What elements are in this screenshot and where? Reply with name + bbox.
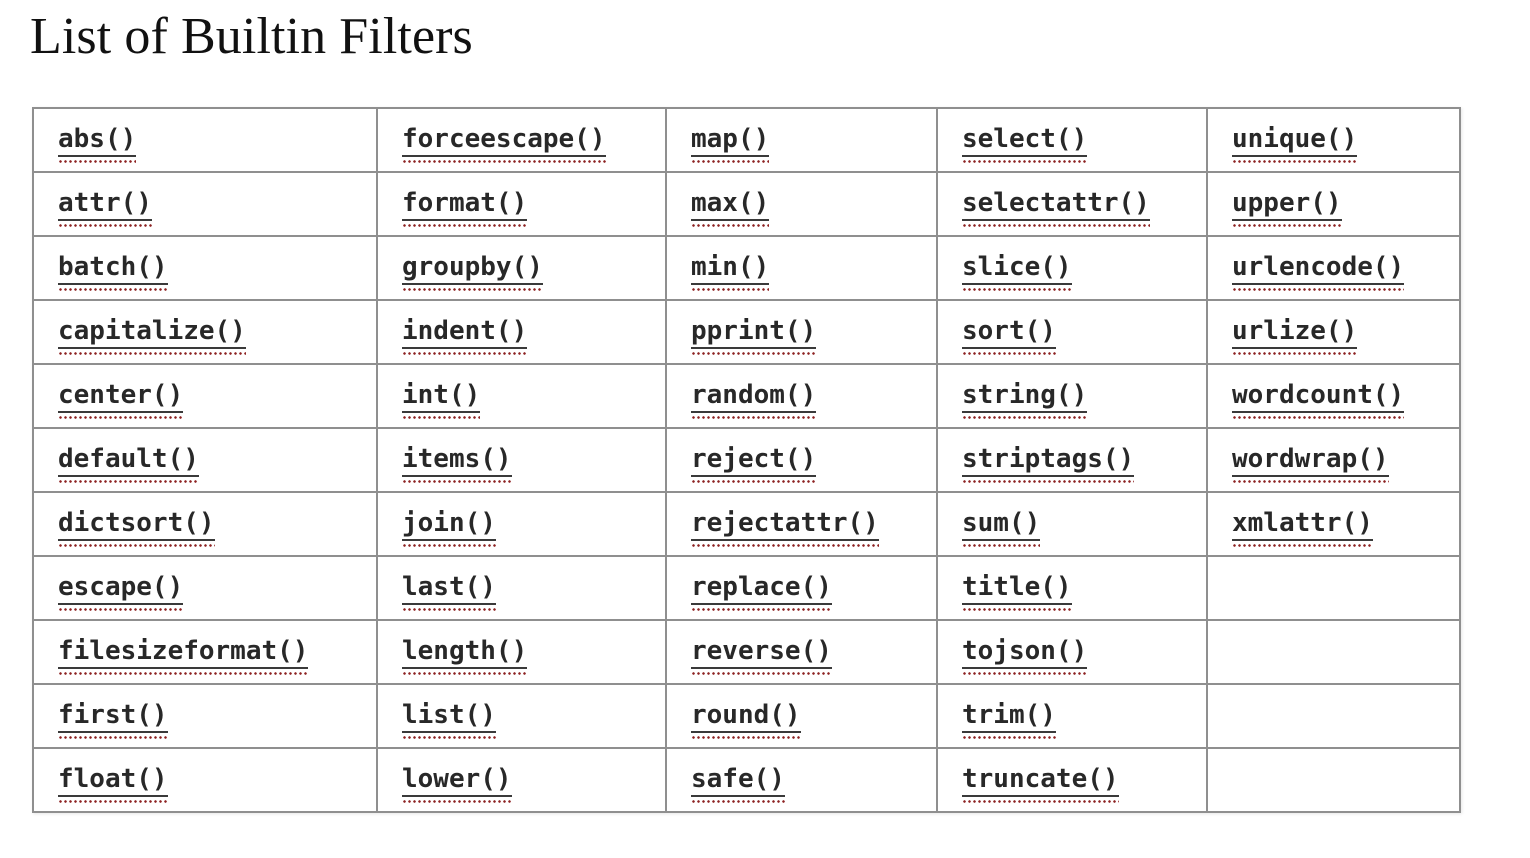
table-cell: filesizeformat() bbox=[33, 620, 377, 684]
filter-link[interactable]: join() bbox=[402, 508, 496, 541]
table-cell-empty bbox=[1207, 684, 1460, 748]
table-row: float()lower()safe()truncate() bbox=[33, 748, 1460, 812]
table-cell: max() bbox=[666, 172, 937, 236]
table-cell: attr() bbox=[33, 172, 377, 236]
table-cell: truncate() bbox=[937, 748, 1207, 812]
filter-link[interactable]: selectattr() bbox=[962, 188, 1150, 221]
table-cell: map() bbox=[666, 108, 937, 172]
filter-link[interactable]: rejectattr() bbox=[691, 508, 879, 541]
filter-link[interactable]: center() bbox=[58, 380, 183, 413]
filter-link[interactable]: wordwrap() bbox=[1232, 444, 1389, 477]
filter-link[interactable]: urlize() bbox=[1232, 316, 1357, 349]
filter-link[interactable]: title() bbox=[962, 572, 1072, 605]
filter-link[interactable]: tojson() bbox=[962, 636, 1087, 669]
table-cell: trim() bbox=[937, 684, 1207, 748]
table-cell: center() bbox=[33, 364, 377, 428]
filter-link[interactable]: unique() bbox=[1232, 124, 1357, 157]
table-cell: pprint() bbox=[666, 300, 937, 364]
filter-link[interactable]: reject() bbox=[691, 444, 816, 477]
filter-link[interactable]: int() bbox=[402, 380, 480, 413]
filter-link[interactable]: select() bbox=[962, 124, 1087, 157]
table-cell: float() bbox=[33, 748, 377, 812]
filter-link[interactable]: first() bbox=[58, 700, 168, 733]
table-cell: groupby() bbox=[377, 236, 666, 300]
table-cell: safe() bbox=[666, 748, 937, 812]
table-cell: selectattr() bbox=[937, 172, 1207, 236]
table-cell: int() bbox=[377, 364, 666, 428]
filter-link[interactable]: random() bbox=[691, 380, 816, 413]
filter-link[interactable]: attr() bbox=[58, 188, 152, 221]
filter-link[interactable]: float() bbox=[58, 764, 168, 797]
table-row: capitalize()indent()pprint()sort()urlize… bbox=[33, 300, 1460, 364]
builtin-filters-table: abs()forceescape()map()select()unique()a… bbox=[32, 107, 1461, 813]
table-row: first()list()round()trim() bbox=[33, 684, 1460, 748]
table-cell: join() bbox=[377, 492, 666, 556]
table-row: attr()format()max()selectattr()upper() bbox=[33, 172, 1460, 236]
table-cell: rejectattr() bbox=[666, 492, 937, 556]
filter-link[interactable]: pprint() bbox=[691, 316, 816, 349]
table-cell: xmlattr() bbox=[1207, 492, 1460, 556]
filter-link[interactable]: indent() bbox=[402, 316, 527, 349]
filter-link[interactable]: truncate() bbox=[962, 764, 1119, 797]
filter-link[interactable]: batch() bbox=[58, 252, 168, 285]
table-cell: batch() bbox=[33, 236, 377, 300]
table-cell: wordwrap() bbox=[1207, 428, 1460, 492]
table-cell: unique() bbox=[1207, 108, 1460, 172]
table-cell: select() bbox=[937, 108, 1207, 172]
filter-link[interactable]: abs() bbox=[58, 124, 136, 157]
table-cell: list() bbox=[377, 684, 666, 748]
filter-link[interactable]: max() bbox=[691, 188, 769, 221]
filter-link[interactable]: urlencode() bbox=[1232, 252, 1404, 285]
filter-link[interactable]: upper() bbox=[1232, 188, 1342, 221]
table-cell: urlencode() bbox=[1207, 236, 1460, 300]
table-cell: length() bbox=[377, 620, 666, 684]
filter-link[interactable]: sort() bbox=[962, 316, 1056, 349]
filter-link[interactable]: escape() bbox=[58, 572, 183, 605]
table-cell: min() bbox=[666, 236, 937, 300]
table-cell: default() bbox=[33, 428, 377, 492]
filter-link[interactable]: capitalize() bbox=[58, 316, 246, 349]
filter-link[interactable]: filesizeformat() bbox=[58, 636, 308, 669]
filter-link[interactable]: trim() bbox=[962, 700, 1056, 733]
table-cell: sort() bbox=[937, 300, 1207, 364]
table-cell: dictsort() bbox=[33, 492, 377, 556]
table-cell: wordcount() bbox=[1207, 364, 1460, 428]
table-cell: sum() bbox=[937, 492, 1207, 556]
table-cell: escape() bbox=[33, 556, 377, 620]
table-body: abs()forceescape()map()select()unique()a… bbox=[33, 108, 1460, 812]
filter-link[interactable]: format() bbox=[402, 188, 527, 221]
table-cell: round() bbox=[666, 684, 937, 748]
filter-link[interactable]: length() bbox=[402, 636, 527, 669]
table-cell: last() bbox=[377, 556, 666, 620]
table-row: center()int()random()string()wordcount() bbox=[33, 364, 1460, 428]
table-cell: reverse() bbox=[666, 620, 937, 684]
table-cell: abs() bbox=[33, 108, 377, 172]
table-cell: slice() bbox=[937, 236, 1207, 300]
table-cell: capitalize() bbox=[33, 300, 377, 364]
filter-link[interactable]: map() bbox=[691, 124, 769, 157]
table-cell: lower() bbox=[377, 748, 666, 812]
table-cell: items() bbox=[377, 428, 666, 492]
filter-link[interactable]: groupby() bbox=[402, 252, 543, 285]
table-cell: forceescape() bbox=[377, 108, 666, 172]
table-cell-empty bbox=[1207, 620, 1460, 684]
filter-link[interactable]: safe() bbox=[691, 764, 785, 797]
table-cell: reject() bbox=[666, 428, 937, 492]
filter-link[interactable]: list() bbox=[402, 700, 496, 733]
filter-link[interactable]: replace() bbox=[691, 572, 832, 605]
table-cell: first() bbox=[33, 684, 377, 748]
filter-link[interactable]: reverse() bbox=[691, 636, 832, 669]
table-cell: upper() bbox=[1207, 172, 1460, 236]
document-page: List of Builtin Filters abs()forceescape… bbox=[0, 0, 1530, 858]
builtin-filters-table-container: abs()forceescape()map()select()unique()a… bbox=[32, 107, 1460, 813]
table-cell: replace() bbox=[666, 556, 937, 620]
filter-link[interactable]: dictsort() bbox=[58, 508, 215, 541]
filter-link[interactable]: default() bbox=[58, 444, 199, 477]
table-cell: random() bbox=[666, 364, 937, 428]
table-row: filesizeformat()length()reverse()tojson(… bbox=[33, 620, 1460, 684]
table-row: dictsort()join()rejectattr()sum()xmlattr… bbox=[33, 492, 1460, 556]
filter-link[interactable]: wordcount() bbox=[1232, 380, 1404, 413]
table-row: default()items()reject()striptags()wordw… bbox=[33, 428, 1460, 492]
filter-link[interactable]: min() bbox=[691, 252, 769, 285]
table-cell-empty bbox=[1207, 748, 1460, 812]
table-cell: tojson() bbox=[937, 620, 1207, 684]
filter-link[interactable]: round() bbox=[691, 700, 801, 733]
table-cell: urlize() bbox=[1207, 300, 1460, 364]
table-cell: indent() bbox=[377, 300, 666, 364]
table-cell: title() bbox=[937, 556, 1207, 620]
filter-link[interactable]: sum() bbox=[962, 508, 1040, 541]
filter-link[interactable]: string() bbox=[962, 380, 1087, 413]
table-cell: string() bbox=[937, 364, 1207, 428]
page-title: List of Builtin Filters bbox=[30, 8, 473, 66]
filter-link[interactable]: forceescape() bbox=[402, 124, 606, 157]
filter-link[interactable]: lower() bbox=[402, 764, 512, 797]
filter-link[interactable]: items() bbox=[402, 444, 512, 477]
table-row: escape()last()replace()title() bbox=[33, 556, 1460, 620]
filter-link[interactable]: slice() bbox=[962, 252, 1072, 285]
table-cell: format() bbox=[377, 172, 666, 236]
table-row: abs()forceescape()map()select()unique() bbox=[33, 108, 1460, 172]
filter-link[interactable]: last() bbox=[402, 572, 496, 605]
table-row: batch()groupby()min()slice()urlencode() bbox=[33, 236, 1460, 300]
table-cell-empty bbox=[1207, 556, 1460, 620]
filter-link[interactable]: xmlattr() bbox=[1232, 508, 1373, 541]
filter-link[interactable]: striptags() bbox=[962, 444, 1134, 477]
table-cell: striptags() bbox=[937, 428, 1207, 492]
